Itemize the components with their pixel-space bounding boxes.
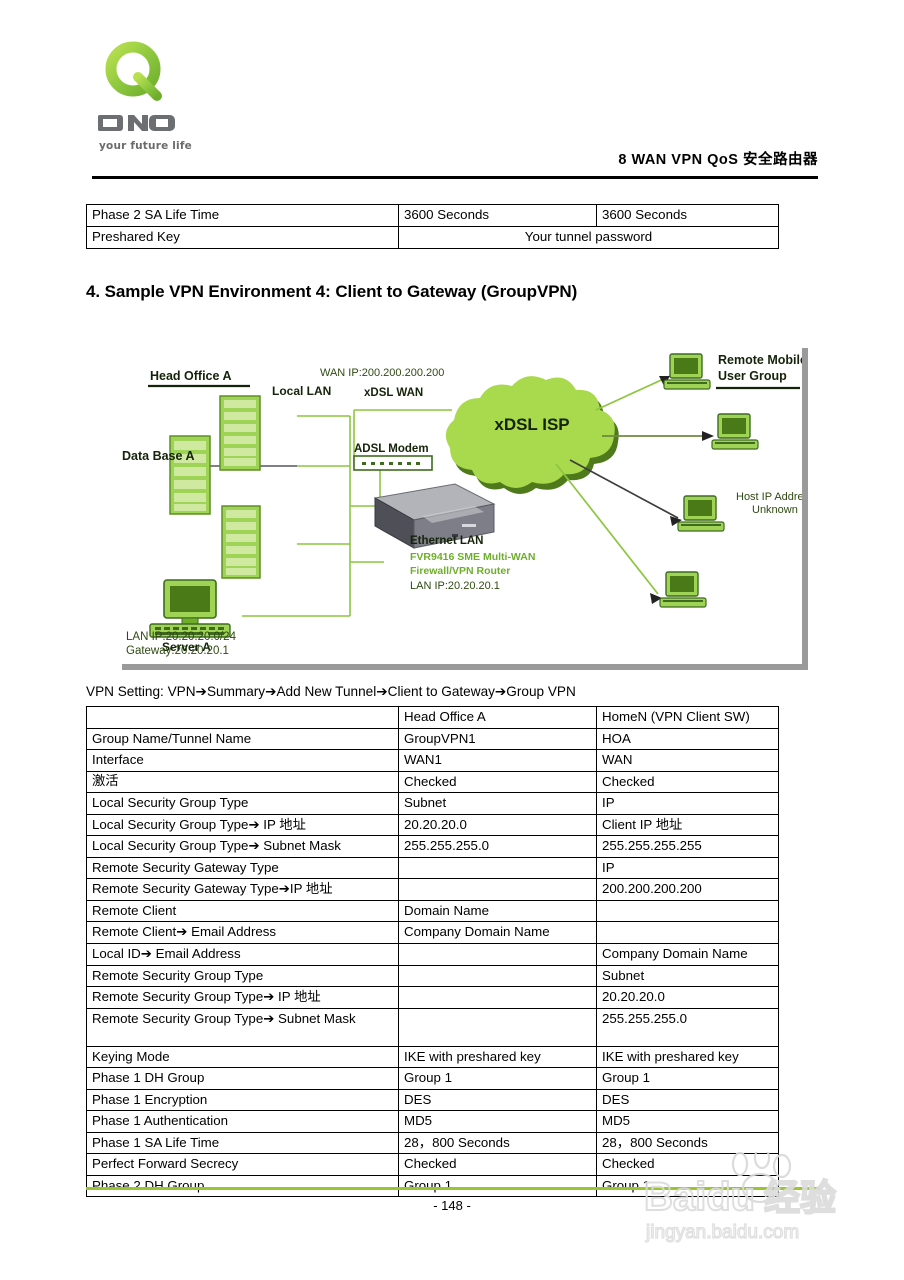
phase2-summary-table: Phase 2 SA Life Time 3600 Seconds 3600 S… [86,204,779,249]
cell-setting-label: Local ID➔ Email Address [87,944,399,966]
table-row: Remote ClientDomain Name [87,900,779,922]
lan-ip-block: LAN IP:20.20.20.0/24 Gateway:20.20.20.1 [126,630,236,659]
label-host-ip-1: Host IP Address: [736,491,802,503]
table-row: Phase 1 SA Life Time28，800 Seconds28，800… [87,1132,779,1154]
document-page: your future life 8 WAN VPN QoS 安全路由器 Pha… [0,0,904,1280]
cell-setting-label: Phase 1 Authentication [87,1111,399,1133]
label-gateway: Gateway:20.20.20.1 [126,644,236,658]
cell-setting-label: Phase 1 DH Group [87,1068,399,1090]
cell-setting-label: Local Security Group Type➔ Subnet Mask [87,836,399,858]
label-xdsl-wan: xDSL WAN [364,387,423,399]
label-adsl-modem: ADSL Modem [354,443,429,455]
table-header-row: Head Office AHomeN (VPN Client SW) [87,707,779,729]
table-row: Phase 1 DH GroupGroup 1Group 1 [87,1068,779,1090]
label-remote-mobile-2: User Group [718,369,787,383]
cell-label: Phase 2 SA Life Time [87,205,399,227]
cell-setting-label [87,707,399,729]
table-row: Phase 1 AuthenticationMD5MD5 [87,1111,779,1133]
cell-homen-value: 28，800 Seconds [597,1132,779,1154]
vpn-setting-breadcrumb: VPN Setting: VPN➔Summary➔Add New Tunnel➔… [86,684,576,700]
q-mark-icon [100,38,172,110]
cell-value-merged: Your tunnel password [399,227,779,249]
vpn-configuration-table-body: Head Office AHomeN (VPN Client SW)Group … [87,707,779,1197]
cloud-label: xDSL ISP [494,415,569,434]
rack-icon-3 [222,506,260,578]
label-ethernet-lan: Ethernet LAN [410,535,483,547]
table-row: InterfaceWAN1WAN [87,750,779,772]
label-data-base: Data Base A [122,449,195,463]
cell-homen-value: 255.255.255.255 [597,836,779,858]
watermark-url: jingyan.baidu.com [645,1222,799,1243]
label-lan-ip: LAN IP:20.20.20.0/24 [126,630,236,644]
cell-homen-value: IP [597,857,779,879]
vpn-topology-diagram: xDSL ISP [122,348,808,670]
cell-homen-value [597,922,779,944]
table-row: Remote Security Gateway Type➔IP 地址200.20… [87,879,779,901]
rack-icon-2 [170,436,210,514]
top-table-body: Phase 2 SA Life Time 3600 Seconds 3600 S… [87,205,779,249]
label-router-lan-ip: LAN IP:20.20.20.1 [410,580,500,592]
cell-value-homen: 3600 Seconds [597,205,779,227]
table-row: Local Security Group Type➔ IP 地址20.20.20… [87,814,779,836]
cell-head-office-value: Domain Name [399,900,597,922]
label-wan-ip: WAN IP:200.200.200.200 [320,367,444,379]
cell-head-office-value [399,1008,597,1046]
cell-homen-value: Client IP 地址 [597,814,779,836]
cell-homen-value: WAN [597,750,779,772]
table-row: Local Security Group Type➔ Subnet Mask25… [87,836,779,858]
table-row: Perfect Forward SecrecyCheckedChecked [87,1154,779,1176]
adsl-modem-icon [354,456,432,470]
footer-divider [86,1187,820,1190]
cell-head-office-value: 20.20.20.0 [399,814,597,836]
cell-setting-label: Remote Security Group Type [87,965,399,987]
cell-homen-value: 200.200.200.200 [597,879,779,901]
cell-head-office-value: MD5 [399,1111,597,1133]
header-divider [92,176,818,179]
cell-homen-value: DES [597,1089,779,1111]
cell-homen-value [597,900,779,922]
cell-setting-label: Remote Security Group Type➔ Subnet Mask [87,1008,399,1046]
document-header-title: 8 WAN VPN QoS 安全路由器 [618,148,818,169]
cell-setting-label: Remote Security Gateway Type [87,857,399,879]
cell-homen-value: MD5 [597,1111,779,1133]
cell-head-office-value: 28，800 Seconds [399,1132,597,1154]
cell-head-office-value: GroupVPN1 [399,728,597,750]
cell-setting-label: Remote Client➔ Email Address [87,922,399,944]
cell-homen-value: HOA [597,728,779,750]
table-row: Keying ModeIKE with preshared keyIKE wit… [87,1046,779,1068]
cell-setting-label: Group Name/Tunnel Name [87,728,399,750]
cell-setting-label: Keying Mode [87,1046,399,1068]
cell-head-office-value [399,857,597,879]
label-router-model-1: FVR9416 SME Multi-WAN [410,551,535,563]
cell-homen-value: Group 1 [597,1068,779,1090]
qno-wordmark-icon [98,112,212,139]
label-remote-mobile-1: Remote Mobile [718,353,802,367]
cell-homen-value: HomeN (VPN Client SW) [597,707,779,729]
cell-head-office-value [399,987,597,1009]
cell-head-office-value: Company Domain Name [399,922,597,944]
table-row: Remote Security Group Type➔ Subnet Mask2… [87,1008,779,1046]
cell-setting-label: Remote Security Group Type➔ IP 地址 [87,987,399,1009]
cell-setting-label: 激活 [87,771,399,793]
cell-head-office-value: Group 1 [399,1068,597,1090]
cell-setting-label: Local Security Group Type [87,793,399,815]
cell-homen-value: Company Domain Name [597,944,779,966]
cell-setting-label: Phase 1 Encryption [87,1089,399,1111]
table-row: 激活CheckedChecked [87,771,779,793]
cell-value-head-office: 3600 Seconds [399,205,597,227]
cell-setting-label: Remote Security Gateway Type➔IP 地址 [87,879,399,901]
cell-head-office-value: Checked [399,1154,597,1176]
table-row: Remote Security Gateway TypeIP [87,857,779,879]
rack-icon-1 [220,396,260,470]
table-row: Remote Client➔ Email AddressCompany Doma… [87,922,779,944]
cell-head-office-value: IKE with preshared key [399,1046,597,1068]
label-head-office: Head Office A [150,369,232,383]
cell-setting-label: Phase 1 SA Life Time [87,1132,399,1154]
table-row: Phase 2 SA Life Time 3600 Seconds 3600 S… [87,205,779,227]
cell-setting-label: Remote Client [87,900,399,922]
section-heading: 4. Sample VPN Environment 4: Client to G… [86,282,577,302]
table-row: Remote Security Group Type➔ IP 地址20.20.2… [87,987,779,1009]
page-number: - 148 - [0,1198,904,1213]
cell-head-office-value [399,965,597,987]
cell-head-office-value [399,879,597,901]
cell-head-office-value [399,944,597,966]
cell-head-office-value: Head Office A [399,707,597,729]
qno-logo: your future life [92,38,212,152]
table-row: Preshared Key Your tunnel password [87,227,779,249]
table-row: Group Name/Tunnel NameGroupVPN1HOA [87,728,779,750]
vpn-configuration-table: Head Office AHomeN (VPN Client SW)Group … [86,706,779,1197]
logo-tagline: your future life [99,140,212,152]
cell-head-office-value: DES [399,1089,597,1111]
cell-setting-label: Interface [87,750,399,772]
table-row: Phase 1 EncryptionDESDES [87,1089,779,1111]
cell-homen-value: Checked [597,1154,779,1176]
cell-setting-label: Local Security Group Type➔ IP 地址 [87,814,399,836]
cell-homen-value: 255.255.255.0 [597,1008,779,1046]
cell-head-office-value: Checked [399,771,597,793]
label-host-ip-2: Unknown [752,504,798,516]
cell-homen-value: Checked [597,771,779,793]
table-row: Local Security Group TypeSubnetIP [87,793,779,815]
cell-head-office-value: 255.255.255.0 [399,836,597,858]
cell-homen-value: 20.20.20.0 [597,987,779,1009]
cell-head-office-value: WAN1 [399,750,597,772]
cell-setting-label: Perfect Forward Secrecy [87,1154,399,1176]
cell-label: Preshared Key [87,227,399,249]
label-router-model-2: Firewall/VPN Router [410,565,510,577]
table-row: Local ID➔ Email AddressCompany Domain Na… [87,944,779,966]
label-local-lan: Local LAN [272,384,331,398]
cell-homen-value: IP [597,793,779,815]
cell-head-office-value: Subnet [399,793,597,815]
table-row: Remote Security Group TypeSubnet [87,965,779,987]
topology-svg: xDSL ISP [122,348,802,664]
cell-homen-value: Subnet [597,965,779,987]
cell-homen-value: IKE with preshared key [597,1046,779,1068]
